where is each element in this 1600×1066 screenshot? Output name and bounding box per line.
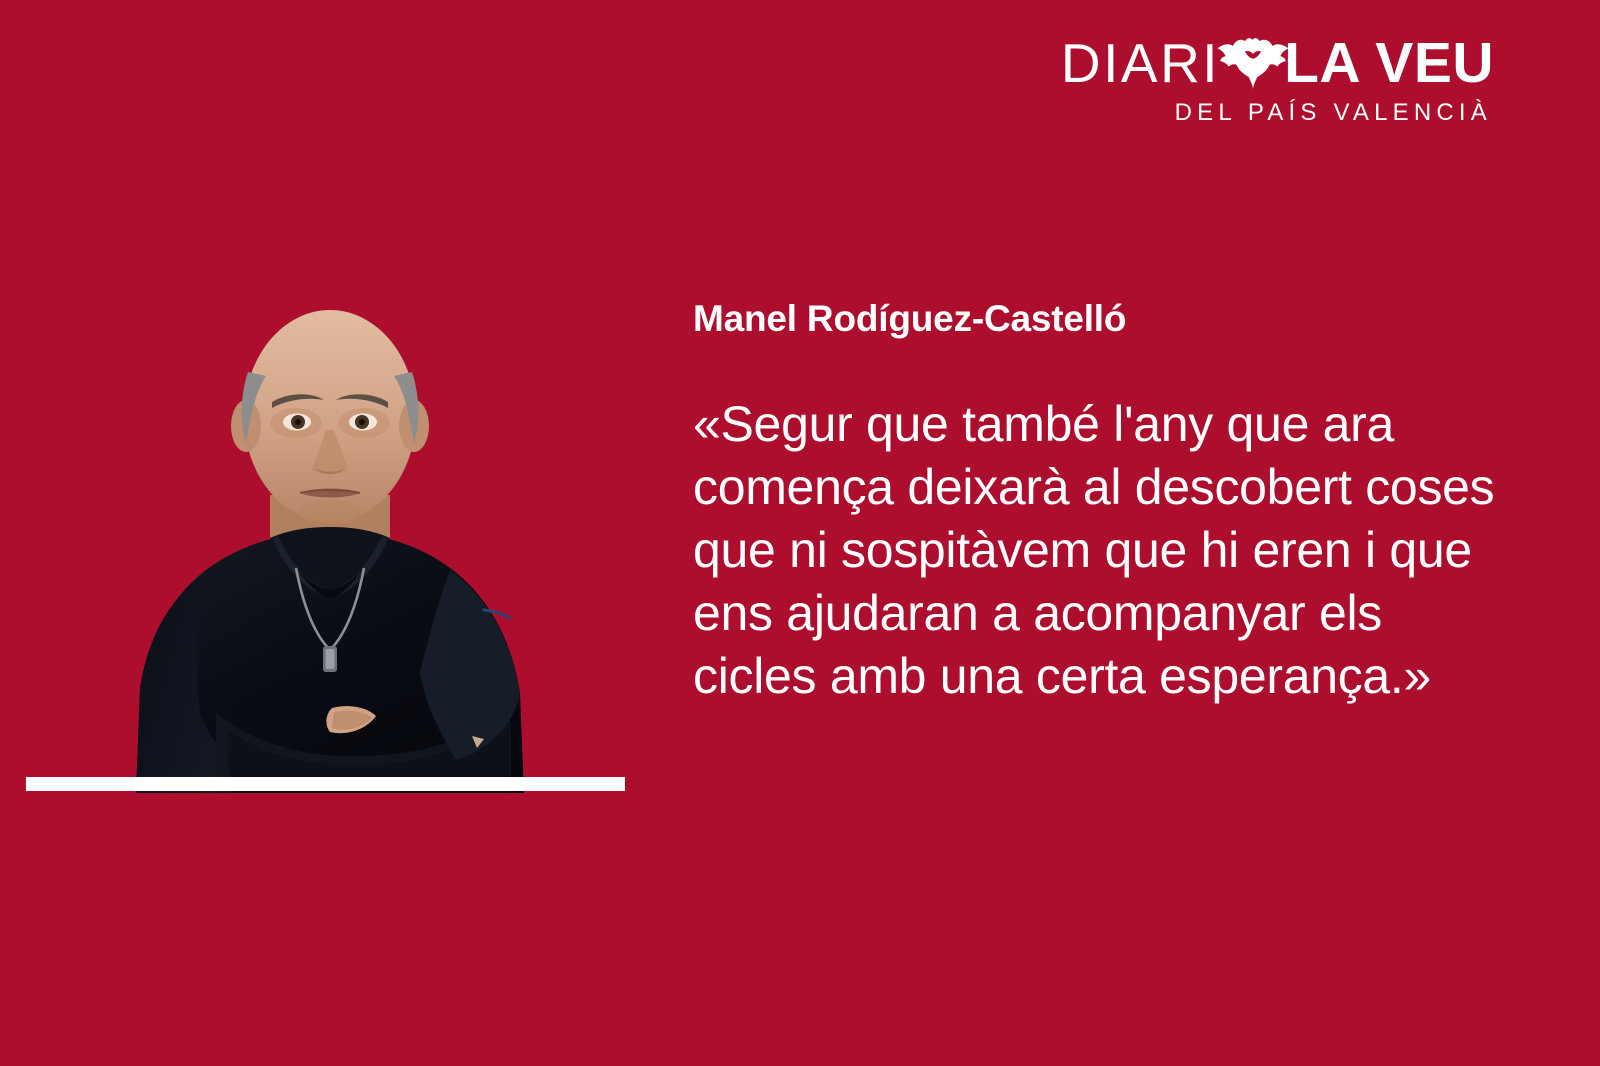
logo-diari-text: DIARI [1061, 36, 1220, 91]
logo-laveu-text: LA VEU [1284, 35, 1494, 92]
logo-tagline: DEL PAÍS VALENCIÀ [1175, 101, 1492, 125]
author-portrait [120, 280, 540, 793]
author-name: Manel Rodíguez-Castelló [693, 298, 1508, 341]
logo-wordmark-row: DIARI LA VEU [1061, 34, 1494, 92]
quote-card: DIARI LA VEU DEL PAÍS VALENCIÀ [0, 0, 1600, 1066]
quote-text-block: Manel Rodíguez-Castelló «Segur que també… [693, 298, 1508, 708]
portrait-illustration [120, 280, 540, 793]
divider-rule [26, 777, 625, 791]
masthead-logo[interactable]: DIARI LA VEU DEL PAÍS VALENCIÀ [1061, 34, 1494, 125]
quote-body: «Segur que també l'any que ara comença d… [693, 393, 1508, 708]
bat-icon [1216, 35, 1290, 91]
